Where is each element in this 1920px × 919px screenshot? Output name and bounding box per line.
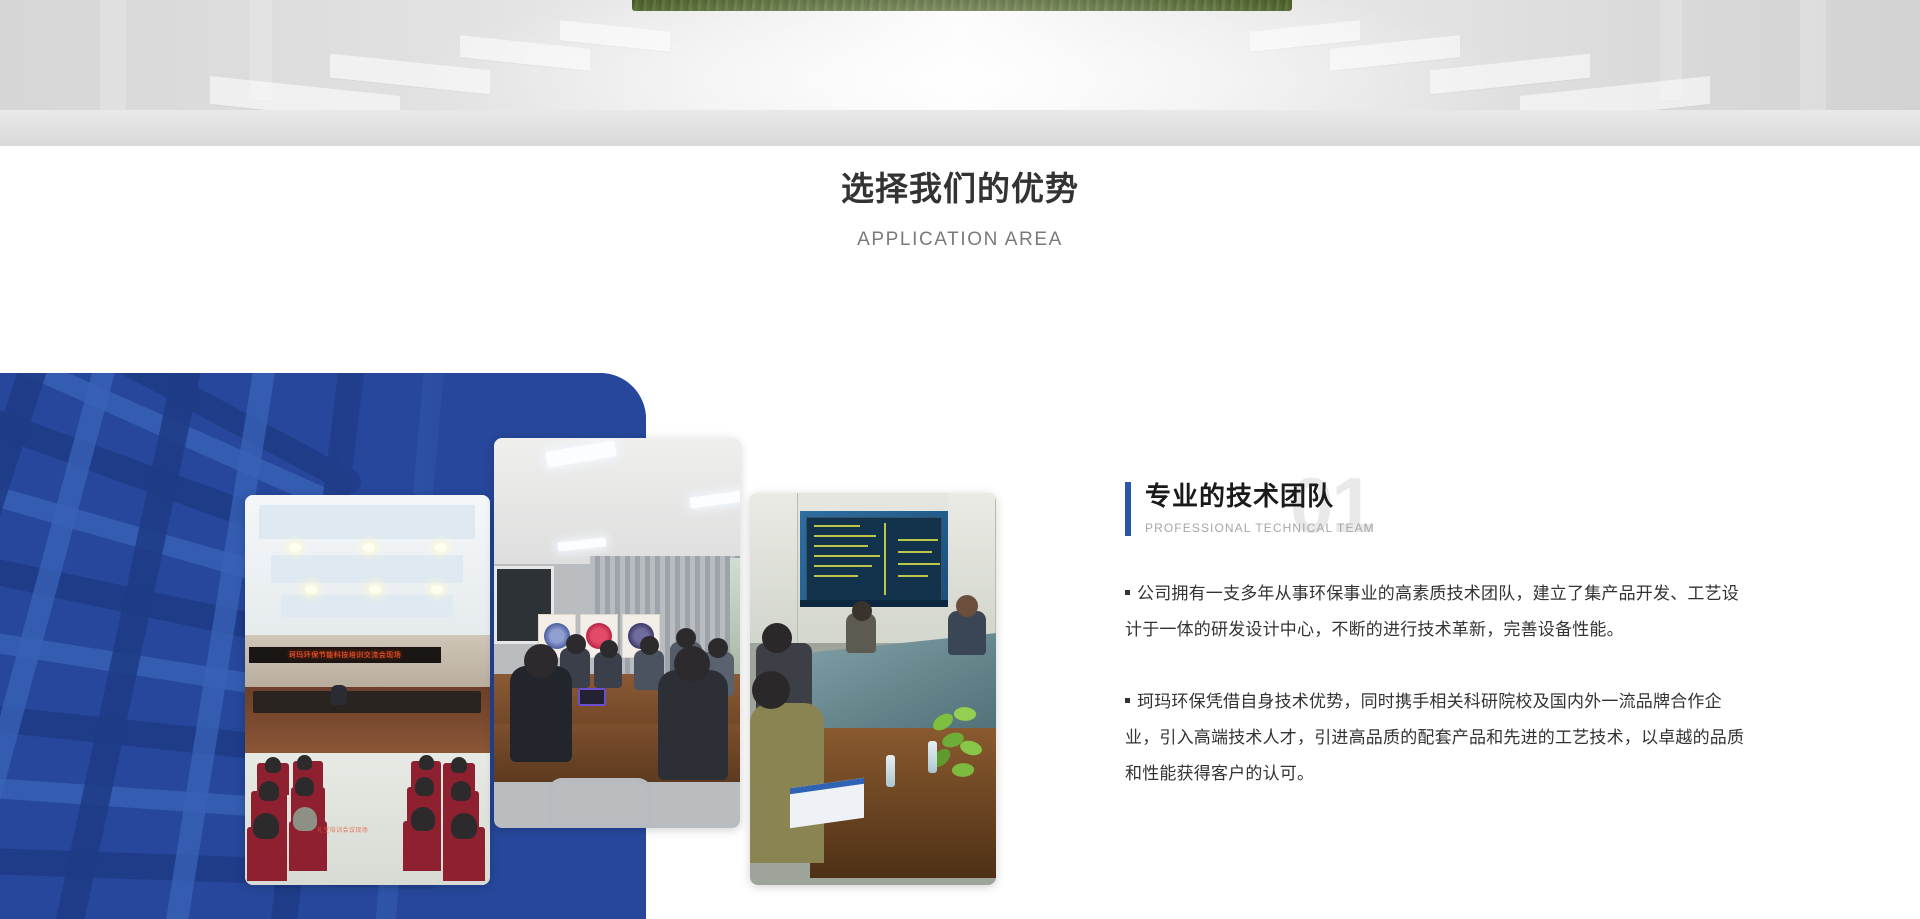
chair <box>548 778 652 828</box>
feature-header: 01 专业的技术团队 PROFESSIONAL TECHNICAL TEAM <box>1125 480 1745 552</box>
hero-foreground-step <box>0 110 1920 146</box>
attendee-head <box>600 640 618 658</box>
foreground-attendee <box>750 703 824 863</box>
foreground-attendee-head <box>674 646 710 682</box>
water-bottle <box>886 755 895 787</box>
paragraph-text: 珂玛环保凭借自身技术优势，同时携手相关科研院校及国内外一流品牌合作企业，引入高端… <box>1125 692 1744 783</box>
foreground-attendee-head <box>752 671 790 709</box>
page-root: 选择我们的优势 APPLICATION AREA <box>0 0 1920 919</box>
photo-projector-meeting[interactable] <box>750 493 996 885</box>
foreground-attendee <box>510 666 572 762</box>
attendee-head <box>708 638 728 658</box>
photo-conference-room[interactable] <box>494 438 740 828</box>
attendee-head <box>762 623 792 653</box>
photo-auditorium[interactable]: 珂玛环保节能科技培训交流会现场 <box>245 495 490 885</box>
section-title-en: APPLICATION AREA <box>0 229 1920 251</box>
speaker-figure <box>331 685 347 705</box>
bullet-icon <box>1125 698 1130 703</box>
floor-reflection-text: 礼堂培训会议现场 <box>317 825 368 834</box>
feature-content: 01 专业的技术团队 PROFESSIONAL TECHNICAL TEAM 公… <box>1125 480 1745 792</box>
head-table <box>253 691 481 713</box>
wall-cabinet <box>750 493 798 643</box>
projector-screen <box>800 511 948 607</box>
attendee <box>948 611 986 655</box>
laptop <box>578 688 606 706</box>
feature-paragraph: 珂玛环保凭借自身技术优势，同时携手相关科研院校及国内外一流品牌合作企业，引入高端… <box>1125 684 1745 792</box>
potted-plant <box>930 707 988 783</box>
foreground-attendee-head <box>524 644 558 678</box>
hero-banner <box>0 0 1920 146</box>
paragraph-text: 公司拥有一支多年从事环保事业的高素质技术团队，建立了集产品开发、工艺设计于一体的… <box>1125 584 1739 639</box>
water-bottle <box>928 741 937 773</box>
feature-paragraph: 公司拥有一支多年从事环保事业的高素质技术团队，建立了集产品开发、工艺设计于一体的… <box>1125 576 1745 648</box>
feature-heading-en: PROFESSIONAL TECHNICAL TEAM <box>1145 521 1745 535</box>
led-banner-text: 珂玛环保节能科技培训交流会现场 <box>289 650 402 660</box>
foreground-attendee <box>658 670 728 780</box>
attendee-head <box>676 628 696 648</box>
ceiling <box>245 495 490 635</box>
attendee-head <box>566 634 586 654</box>
screen-taskbar <box>800 600 948 607</box>
feature-heading-cn: 专业的技术团队 <box>1145 480 1745 513</box>
section-title-cn: 选择我们的优势 <box>0 168 1920 211</box>
seat-block-left <box>245 731 337 885</box>
attendee-head <box>640 636 659 655</box>
led-banner: 珂玛环保节能科技培训交流会现场 <box>249 647 441 663</box>
section-heading: 选择我们的优势 APPLICATION AREA <box>0 168 1920 251</box>
attendee-head <box>956 595 978 617</box>
cad-drawing <box>806 517 942 601</box>
bullet-icon <box>1125 590 1130 595</box>
feature-paragraphs: 公司拥有一支多年从事环保事业的高素质技术团队，建立了集产品开发、工艺设计于一体的… <box>1125 576 1745 792</box>
seat-block-right <box>395 731 487 885</box>
attendee-head <box>852 601 872 621</box>
